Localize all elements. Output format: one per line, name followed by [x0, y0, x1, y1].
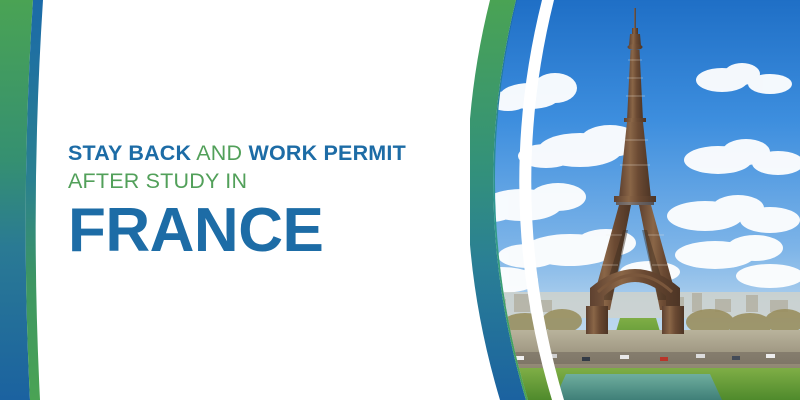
- headline-and: AND: [191, 141, 248, 165]
- left-ribbon: [0, 0, 60, 400]
- right-arc-frame: [470, 0, 800, 400]
- headline-block: STAY BACK AND WORK PERMIT AFTER STUDY IN…: [68, 140, 468, 262]
- headline-country: FRANCE: [68, 200, 468, 262]
- headline-line-2: AFTER STUDY IN: [68, 166, 468, 196]
- headline-stay-back: STAY BACK: [68, 141, 191, 165]
- banner-root: STAY BACK AND WORK PERMIT AFTER STUDY IN…: [0, 0, 800, 400]
- headline-work-permit: WORK PERMIT: [248, 141, 405, 165]
- photo-water-basin: [554, 374, 722, 400]
- headline-line-1: STAY BACK AND WORK PERMIT: [68, 140, 468, 166]
